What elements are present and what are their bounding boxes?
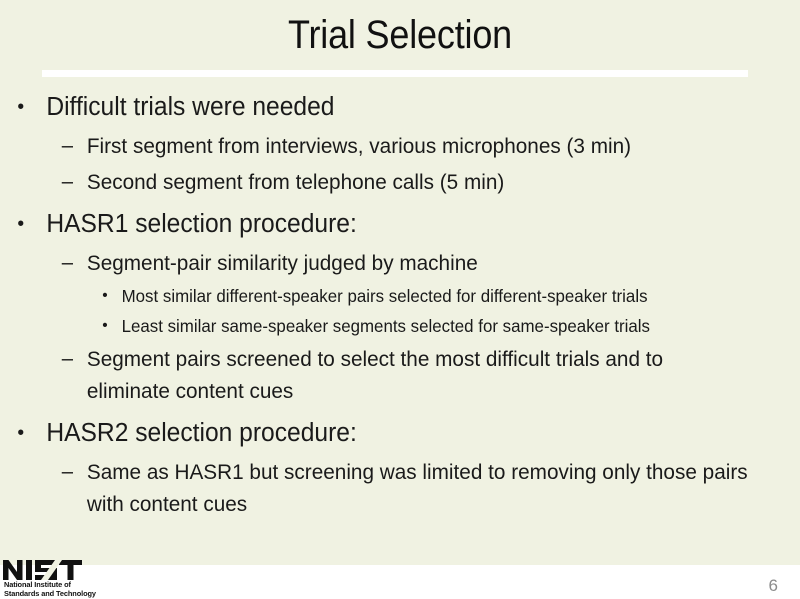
spacer bbox=[0, 279, 800, 282]
spacer bbox=[0, 309, 800, 312]
disc-bullet-icon: • bbox=[102, 283, 107, 309]
dash-bullet-icon: – bbox=[62, 247, 73, 279]
spacer bbox=[0, 198, 800, 203]
slide-body: • Difficult trials were needed – First s… bbox=[0, 86, 800, 564]
spacer bbox=[0, 243, 800, 246]
spacer bbox=[0, 162, 800, 165]
disc-bullet-icon: • bbox=[17, 88, 24, 126]
bullet-text: HASR1 selection procedure: bbox=[46, 205, 772, 243]
disc-bullet-icon: • bbox=[17, 414, 24, 452]
dash-bullet-icon: – bbox=[62, 456, 73, 488]
bullet-level2-same-as-hasr1: – Same as HASR1 but screening was limite… bbox=[0, 456, 772, 520]
spacer bbox=[0, 339, 800, 342]
bullet-text: Difficult trials were needed bbox=[46, 88, 772, 126]
page-number: 6 bbox=[769, 576, 778, 596]
spacer bbox=[0, 407, 800, 412]
bullet-level2-second-segment: – Second segment from telephone calls (5… bbox=[0, 166, 772, 198]
bullet-text: Segment pairs screened to select the mos… bbox=[87, 343, 749, 407]
bullet-level1-hasr2-procedure: • HASR2 selection procedure: bbox=[0, 414, 772, 452]
bullet-level2-segment-pairs-screened: – Segment pairs screened to select the m… bbox=[0, 343, 772, 407]
dash-bullet-icon: – bbox=[62, 343, 73, 375]
bullet-level2-segment-pair-similarity: – Segment-pair similarity judged by mach… bbox=[0, 247, 772, 279]
bullet-level3-least-similar-same-speaker: • Least similar same-speaker segments se… bbox=[0, 313, 772, 339]
nist-wordmark-icon bbox=[3, 559, 99, 581]
bullet-text: Same as HASR1 but screening was limited … bbox=[87, 456, 749, 520]
bullet-text: First segment from interviews, various m… bbox=[87, 130, 749, 162]
bullet-text: Most similar different-speaker pairs sel… bbox=[122, 283, 765, 309]
bullet-text: Second segment from telephone calls (5 m… bbox=[87, 166, 749, 198]
dash-bullet-icon: – bbox=[62, 130, 73, 162]
bullet-text: HASR2 selection procedure: bbox=[46, 414, 772, 452]
nist-logo: National Institute of Standards and Tech… bbox=[3, 559, 131, 599]
dash-bullet-icon: – bbox=[62, 166, 73, 198]
disc-bullet-icon: • bbox=[102, 313, 107, 339]
page-title: Trial Selection bbox=[40, 8, 760, 62]
bullet-text: Segment-pair similarity judged by machin… bbox=[87, 247, 749, 279]
bullet-level1-hasr1-procedure: • HASR1 selection procedure: bbox=[0, 205, 772, 243]
title-divider-rule bbox=[42, 70, 748, 77]
spacer bbox=[0, 126, 800, 129]
bullet-text: Least similar same-speaker segments sele… bbox=[122, 313, 765, 339]
bullet-level2-first-segment: – First segment from interviews, various… bbox=[0, 130, 772, 162]
nist-logo-line2: Standards and Technology bbox=[3, 590, 131, 599]
bullet-level1-difficult-trials: • Difficult trials were needed bbox=[0, 88, 772, 126]
bullet-level3-most-similar-different-speaker: • Most similar different-speaker pairs s… bbox=[0, 283, 772, 309]
spacer bbox=[0, 452, 800, 455]
disc-bullet-icon: • bbox=[17, 205, 24, 243]
